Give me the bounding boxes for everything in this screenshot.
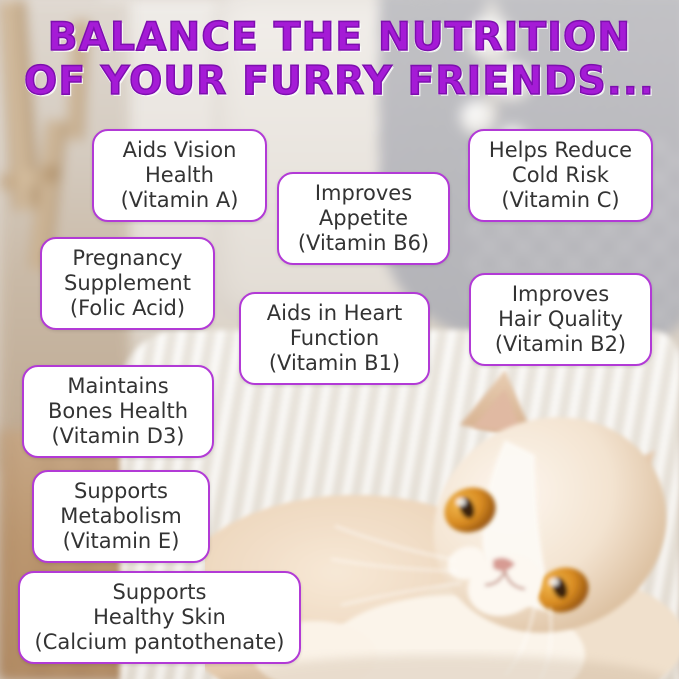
callout-vitamin-d3: Maintains Bones Health (Vitamin D3) <box>22 365 214 458</box>
callout-line: Hair Quality <box>481 307 640 332</box>
callout-line: (Vitamin E) <box>44 529 198 554</box>
callout-line: Maintains <box>34 374 202 399</box>
callout-line: Metabolism <box>44 504 198 529</box>
callout-line: Cold Risk <box>480 163 641 188</box>
callout-vitamin-b1: Aids in Heart Function (Vitamin B1) <box>239 292 430 385</box>
callout-vitamin-a: Aids Vision Health (Vitamin A) <box>92 129 267 222</box>
callout-line: Bones Health <box>34 399 202 424</box>
callout-line: Improves <box>289 181 438 206</box>
callout-line: (Calcium pantothenate) <box>30 630 289 655</box>
callout-line: Helps Reduce <box>480 138 641 163</box>
callout-vitamin-c: Helps Reduce Cold Risk (Vitamin C) <box>468 129 653 222</box>
callout-line: (Vitamin B6) <box>289 231 438 256</box>
callout-line: Supports <box>44 479 198 504</box>
callout-folic-acid: Pregnancy Supplement (Folic Acid) <box>40 237 215 330</box>
callout-line: (Vitamin A) <box>104 188 255 213</box>
callout-line: Supports <box>30 580 289 605</box>
headline-line-1: Balance the Nutrition <box>48 15 631 60</box>
headline-line-2: of your Furry Friends... <box>8 60 671 104</box>
callout-line: (Vitamin D3) <box>34 424 202 449</box>
callout-vitamin-e: Supports Metabolism (Vitamin E) <box>32 470 210 563</box>
callout-line: Supplement <box>52 271 203 296</box>
callout-line: Pregnancy <box>52 246 203 271</box>
callout-line: Health <box>104 163 255 188</box>
page-title: Balance the Nutrition of your Furry Frie… <box>0 16 679 104</box>
callout-line: Function <box>251 326 418 351</box>
callout-line: Healthy Skin <box>30 605 289 630</box>
callout-line: Aids Vision <box>104 138 255 163</box>
callout-vitamin-b2: Improves Hair Quality (Vitamin B2) <box>469 273 652 366</box>
callout-line: (Vitamin C) <box>480 188 641 213</box>
callout-line: Improves <box>481 282 640 307</box>
callout-calcium-pantothenate: Supports Healthy Skin (Calcium pantothen… <box>18 571 301 664</box>
callout-line: Aids in Heart <box>251 301 418 326</box>
callout-vitamin-b6: Improves Appetite (Vitamin B6) <box>277 172 450 265</box>
callout-line: Appetite <box>289 206 438 231</box>
callout-line: (Vitamin B1) <box>251 351 418 376</box>
callout-line: (Vitamin B2) <box>481 332 640 357</box>
product-infographic: Balance the Nutrition of your Furry Frie… <box>0 0 679 679</box>
callout-line: (Folic Acid) <box>52 296 203 321</box>
